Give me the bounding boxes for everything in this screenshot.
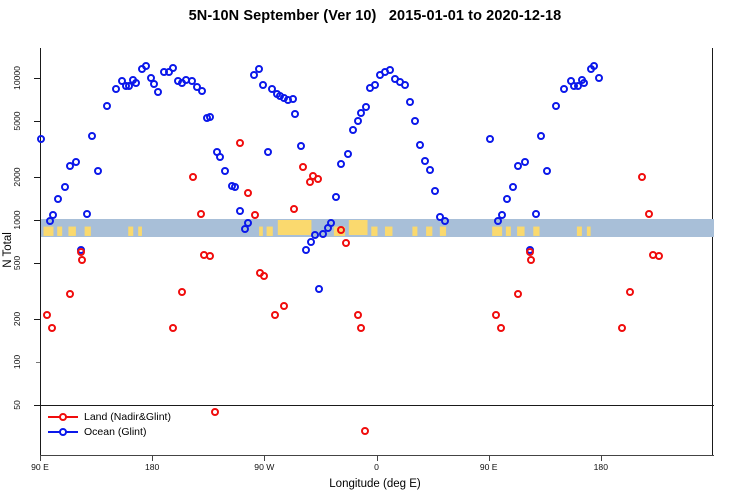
data-point-ocean xyxy=(426,166,434,174)
data-point-ocean xyxy=(132,79,140,87)
data-point-ocean xyxy=(112,85,120,93)
data-point-land xyxy=(244,189,252,197)
legend-item-ocean[interactable]: Ocean (Glint) xyxy=(48,424,171,439)
data-point-land xyxy=(514,290,522,298)
data-point-land xyxy=(361,427,369,435)
legend-marker-land-icon xyxy=(48,411,78,423)
data-point-land xyxy=(260,272,268,280)
y-tick-1000 xyxy=(34,220,40,221)
data-point-ocean xyxy=(595,74,603,82)
y-tick-label-500: 500 xyxy=(12,256,22,270)
data-point-ocean xyxy=(236,207,244,215)
data-point-ocean xyxy=(103,102,111,110)
data-point-ocean xyxy=(231,183,239,191)
chart-title: 5N-10N September (Ver 10) 2015-01-01 to … xyxy=(0,8,750,24)
y-tick-label-200: 200 xyxy=(12,312,22,326)
data-point-ocean xyxy=(244,219,252,227)
data-point-ocean xyxy=(537,132,545,140)
data-point-ocean xyxy=(94,167,102,175)
data-point-ocean xyxy=(401,81,409,89)
data-point-ocean xyxy=(154,88,162,96)
data-point-land xyxy=(48,324,56,332)
data-point-ocean xyxy=(521,158,529,166)
y-tick-label-1000: 1000 xyxy=(12,211,22,230)
data-point-ocean xyxy=(406,98,414,106)
data-point-ocean xyxy=(416,141,424,149)
y-tick-label-10000: 10000 xyxy=(12,66,22,90)
data-point-ocean xyxy=(302,246,310,254)
data-point-ocean xyxy=(332,193,340,201)
data-point-land xyxy=(43,311,51,319)
legend-separator-line xyxy=(40,405,714,406)
data-point-ocean xyxy=(411,117,419,125)
data-point-land xyxy=(492,311,500,319)
data-point-land xyxy=(236,139,244,147)
data-point-ocean xyxy=(264,148,272,156)
data-point-ocean xyxy=(259,81,267,89)
data-point-ocean xyxy=(509,183,517,191)
data-point-ocean xyxy=(142,62,150,70)
data-point-land xyxy=(189,173,197,181)
data-point-ocean xyxy=(289,95,297,103)
y-tick-500 xyxy=(34,263,40,264)
data-point-land xyxy=(342,239,350,247)
data-point-ocean xyxy=(354,117,362,125)
data-point-land xyxy=(638,173,646,181)
data-point-ocean xyxy=(349,126,357,134)
data-point-land xyxy=(645,210,653,218)
data-point-ocean xyxy=(327,219,335,227)
y-tick-label-5000: 5000 xyxy=(12,111,22,130)
data-point-ocean xyxy=(54,195,62,203)
y-tick-label-50: 50 xyxy=(12,400,22,410)
data-point-land xyxy=(178,288,186,296)
data-point-ocean xyxy=(297,142,305,150)
data-point-ocean xyxy=(441,217,449,225)
chart-figure: 5N-10N September (Ver 10) 2015-01-01 to … xyxy=(0,0,750,500)
data-point-land xyxy=(354,311,362,319)
data-point-ocean xyxy=(83,210,91,218)
data-point-ocean xyxy=(503,195,511,203)
data-point-ocean xyxy=(386,66,394,74)
data-point-ocean xyxy=(580,79,588,87)
data-point-ocean xyxy=(590,62,598,70)
y-tick-label-2000: 2000 xyxy=(12,168,22,187)
data-point-land xyxy=(618,324,626,332)
data-point-land xyxy=(527,256,535,264)
y-tick-10000 xyxy=(34,78,40,79)
data-point-land xyxy=(251,211,259,219)
data-point-land xyxy=(626,288,634,296)
data-point-ocean xyxy=(498,211,506,219)
data-point-land xyxy=(655,252,663,260)
data-point-land xyxy=(206,252,214,260)
data-point-land xyxy=(497,324,505,332)
data-point-land xyxy=(197,210,205,218)
data-point-ocean xyxy=(169,64,177,72)
data-point-ocean xyxy=(543,167,551,175)
data-point-ocean xyxy=(421,157,429,165)
data-point-ocean xyxy=(206,113,214,121)
y-tick-5000 xyxy=(34,121,40,122)
data-point-land xyxy=(337,226,345,234)
data-point-ocean xyxy=(371,81,379,89)
data-point-land xyxy=(77,248,85,256)
x-tick-label-90W: 90 W xyxy=(254,462,274,472)
plot-area xyxy=(40,48,713,455)
data-point-ocean xyxy=(431,187,439,195)
data-point-ocean xyxy=(198,87,206,95)
data-point-ocean xyxy=(61,183,69,191)
data-point-ocean xyxy=(552,102,560,110)
data-point-land xyxy=(290,205,298,213)
x-axis-title: Longitude (deg E) xyxy=(0,478,750,490)
data-point-land xyxy=(271,311,279,319)
data-point-ocean xyxy=(49,211,57,219)
land-ocean-map-strip xyxy=(41,219,714,237)
data-point-ocean xyxy=(337,160,345,168)
data-point-ocean xyxy=(150,80,158,88)
legend-label-land: Land (Nadir&Glint) xyxy=(84,411,171,423)
y-tick-100 xyxy=(36,362,40,363)
data-point-land xyxy=(357,324,365,332)
data-point-ocean xyxy=(221,167,229,175)
data-point-land xyxy=(299,163,307,171)
x-tick-label-90E: 90 E xyxy=(31,462,49,472)
data-point-ocean xyxy=(560,85,568,93)
legend-item-land[interactable]: Land (Nadir&Glint) xyxy=(48,409,171,424)
x-tick-label-0: 0 xyxy=(374,462,379,472)
data-point-ocean xyxy=(344,150,352,158)
data-point-ocean xyxy=(532,210,540,218)
y-tick-label-100: 100 xyxy=(12,355,22,369)
x-axis-line xyxy=(40,455,714,456)
data-point-ocean xyxy=(216,153,224,161)
data-point-ocean xyxy=(315,285,323,293)
legend-label-ocean: Ocean (Glint) xyxy=(84,426,146,438)
y-tick-200 xyxy=(34,319,40,320)
data-point-land xyxy=(66,290,74,298)
data-point-ocean xyxy=(255,65,263,73)
data-point-ocean xyxy=(291,110,299,118)
data-point-land xyxy=(78,256,86,264)
data-point-ocean xyxy=(486,135,494,143)
data-point-land xyxy=(280,302,288,310)
data-point-land xyxy=(169,324,177,332)
data-point-ocean xyxy=(72,158,80,166)
x-tick-label-180: 180 xyxy=(145,462,159,472)
data-point-ocean xyxy=(37,135,45,143)
data-point-ocean xyxy=(362,103,370,111)
x-tick-label-180: 180 xyxy=(594,462,608,472)
data-point-land xyxy=(314,175,322,183)
legend-marker-ocean-icon xyxy=(48,426,78,438)
data-point-land xyxy=(526,248,534,256)
data-point-land xyxy=(211,408,219,416)
chart-legend: Land (Nadir&Glint) Ocean (Glint) xyxy=(48,409,171,439)
y-tick-2000 xyxy=(34,177,40,178)
x-tick-label-90E: 90 E xyxy=(480,462,498,472)
data-point-ocean xyxy=(88,132,96,140)
